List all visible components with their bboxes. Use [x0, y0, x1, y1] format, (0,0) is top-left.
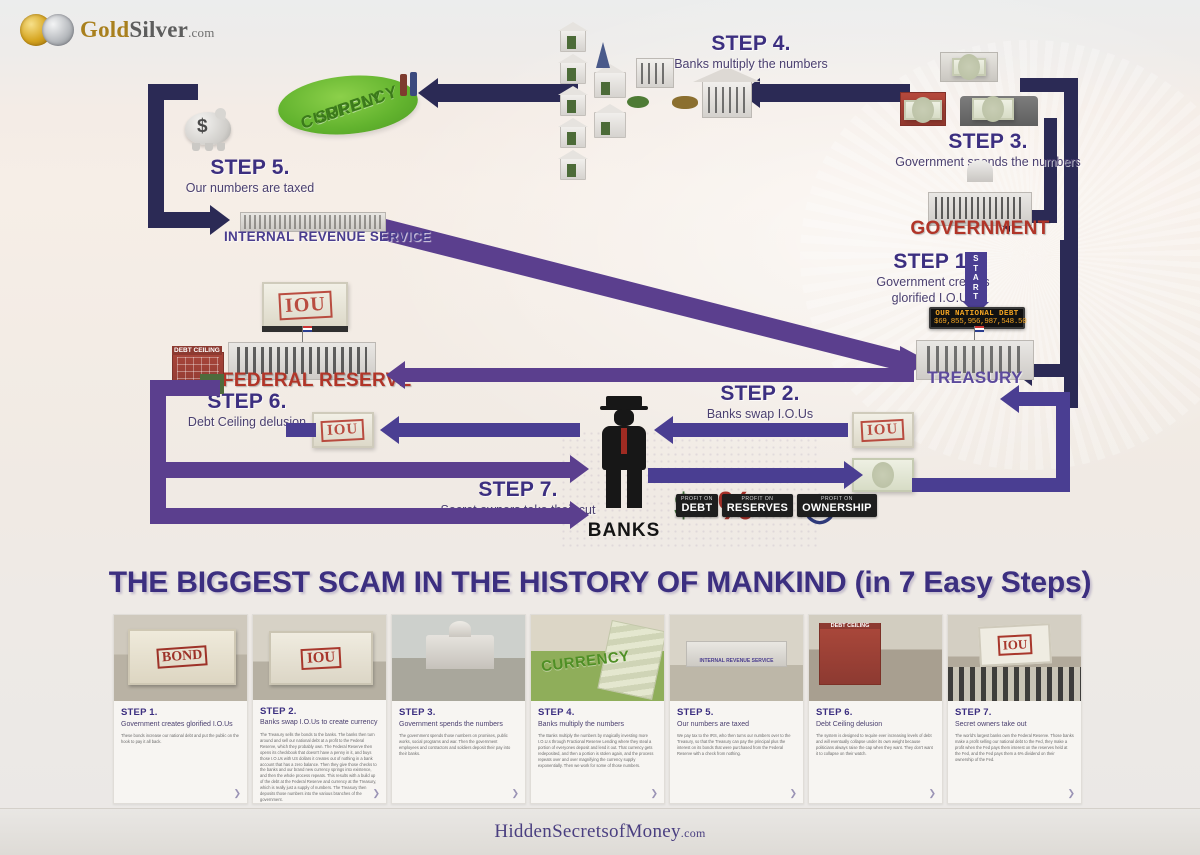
step-card-1-chevron-icon[interactable]: ❯: [233, 788, 241, 799]
profit-on-debt-badge: $ PROFIT ON DEBT: [676, 494, 718, 517]
piggy-bank-icon: [185, 112, 231, 145]
step-card-7-step: STEP 7.: [955, 707, 1074, 718]
flow-right-purple-top: [1018, 392, 1070, 406]
irs-label: INTERNAL REVENUE SERVICE: [224, 229, 404, 244]
iou-text-fed: IOU: [278, 290, 332, 320]
step-card-7-text: The world's largest banks own the Federa…: [955, 733, 1074, 763]
start-arrow-label: START: [965, 252, 987, 302]
badge-value-reserves: RESERVES: [727, 502, 788, 514]
step-card-6-step: STEP 6.: [816, 707, 935, 718]
flow-iou-to-banks-arrowhead: [654, 416, 673, 444]
step-card-1-thumbnail: BOND: [114, 615, 247, 701]
iou-text-banks: IOU: [321, 418, 365, 441]
flow-step7-lower-bar: [150, 508, 570, 524]
bus-icon: [672, 96, 698, 109]
step-card-4-title: Banks multiply the numbers: [538, 721, 657, 730]
house-icon-7: [594, 112, 626, 138]
footer-text-secrets: Secrets: [552, 821, 609, 842]
iou-note-fed[interactable]: IOU: [262, 282, 348, 328]
debt-ceiling-sign: DEBT CEILING: [172, 346, 222, 355]
flow-treasury-to-fed-arrowhead: [386, 361, 405, 389]
flow-banks-to-dollars-arrowhead: [844, 461, 863, 489]
step-card-2-step: STEP 2.: [260, 706, 379, 717]
logo-wordmark: GoldSilver.com: [80, 17, 215, 43]
step-card-4-text: The Banks multiply the numbers by magica…: [538, 733, 657, 769]
step-card-3-title: Government spends the numbers: [399, 721, 518, 730]
step-card-3-chevron-icon[interactable]: ❯: [511, 788, 519, 799]
step-card-1[interactable]: BOND STEP 1. Government creates glorifie…: [113, 614, 248, 804]
flow-banks-to-iou-arrowhead: [380, 416, 399, 444]
step-card-4[interactable]: CURRENCY STEP 4. Banks multiply the numb…: [530, 614, 665, 804]
flow-right-purple-arrowhead: [1000, 385, 1019, 413]
step-card-2-title: Banks swap I.O.Us to create currency: [260, 719, 379, 728]
step-card-6-title: Debt Ceiling delusion: [816, 721, 935, 730]
step-5-label: STEP 5. Our numbers are taxed: [150, 156, 350, 196]
badge-value-debt: DEBT: [681, 502, 713, 514]
crowd-of-bankers-icon: [948, 667, 1081, 701]
dollar-bill-icon-right: [972, 98, 1014, 120]
step-card-1-title: Government creates glorified I.O.Us: [121, 721, 240, 730]
flow-iou-fed-stub: [286, 423, 316, 437]
national-debt-title: OUR NATIONAL DEBT: [934, 310, 1020, 318]
iou-note-treasury[interactable]: IOU: [852, 412, 914, 448]
step-card-3[interactable]: STEP 3. Government spends the numbers Th…: [391, 614, 526, 804]
step-card-5[interactable]: INTERNAL REVENUE SERVICE STEP 5. Our num…: [669, 614, 804, 804]
flow-right-purple-bottom: [912, 478, 1070, 492]
flow-right-purple-vertical: [1056, 392, 1070, 492]
flow-right-outer-top: [1020, 78, 1078, 92]
currency-supply-blob: CURRENCY SUPPLY: [276, 70, 421, 140]
step-card-6[interactable]: DEBT CEILING STEP 6. Debt Ceiling delusi…: [808, 614, 943, 804]
step-card-7-chevron-icon[interactable]: ❯: [1067, 788, 1075, 799]
step-card-5-text: We pay tax to the IRS, who then turns ou…: [677, 733, 796, 757]
badge-value-ownership: OWNERSHIP: [802, 502, 872, 514]
flow-step4-outbound-arrowhead: [418, 78, 438, 108]
house-icon-3: [560, 94, 586, 116]
house-icon-4: [560, 126, 586, 148]
step-card-4-step: STEP 4.: [538, 707, 657, 718]
figure-worker-2: [410, 72, 417, 96]
flow-left-vertical-purple: [150, 380, 166, 524]
capitol-thumb-icon: [426, 635, 494, 669]
step-card-5-title: Our numbers are taxed: [677, 721, 796, 730]
flow-step4-outbound-bar: [438, 84, 578, 102]
currency-supply-label: CURRENCY SUPPLY: [277, 74, 416, 118]
footer-text-of: of: [609, 821, 625, 842]
goldsilver-logo[interactable]: GoldSilver.com: [20, 14, 215, 46]
step-card-7-title: Secret owners take out: [955, 721, 1074, 730]
step-card-6-thumbnail: DEBT CEILING: [809, 615, 942, 701]
flow-step7-lower-arrowhead: [570, 501, 589, 529]
federal-reserve-label: FEDERAL RESERVE: [222, 370, 384, 392]
iou-note-thumb-icon: IOU: [269, 631, 373, 685]
sailboat-icon: [596, 42, 610, 68]
dollar-bill-icon-left: [904, 100, 942, 120]
house-icon-6: [594, 72, 626, 98]
footer-text-hidden: Hidden: [494, 821, 552, 842]
profit-on-reserves-badge: % PROFIT ON RESERVES: [722, 494, 793, 517]
step-card-1-text: These bonds increase our national debt a…: [121, 733, 240, 745]
step-card-5-step: STEP 5.: [677, 707, 796, 718]
logo-gold-text: Gold: [80, 17, 129, 42]
step-card-7[interactable]: IOU STEP 7. Secret owners take out The w…: [947, 614, 1082, 804]
flow-treasury-to-fed-bar: [404, 368, 914, 382]
step-card-7-thumbnail: IOU: [948, 615, 1081, 701]
start-arrow: START: [963, 252, 989, 315]
flow-fed-left-stub: [150, 380, 220, 396]
step-card-5-thumbnail: INTERNAL REVENUE SERVICE: [670, 615, 803, 701]
step-card-3-step: STEP 3.: [399, 707, 518, 718]
step-card-4-thumbnail: CURRENCY: [531, 615, 664, 701]
step-1-label: STEP 1. Government creates glorified I.O…: [838, 250, 1028, 305]
step-card-4-chevron-icon[interactable]: ❯: [650, 788, 658, 799]
step-card-3-thumbnail: [392, 615, 525, 701]
treasury-label: TREASURY: [900, 368, 1050, 388]
figure-worker-1: [400, 74, 407, 96]
house-icon-5: [560, 158, 586, 180]
step-card-6-text: The system is designed to require ever i…: [816, 733, 935, 757]
footer-wordmark[interactable]: HiddenSecretsofMoney.com: [494, 821, 705, 843]
flow-step7-upper-bar: [150, 462, 570, 478]
flow-banks-to-iou-bar: [398, 423, 580, 437]
tree-icon-1: [627, 96, 649, 108]
flow-banks-to-dollars-bar: [648, 468, 844, 483]
banker-figure-icon: [592, 396, 656, 508]
flow-left-loop-vertical: [148, 84, 164, 224]
step-card-3-text: The government spends those numbers on p…: [399, 733, 518, 757]
step-card-2[interactable]: IOU STEP 2. Banks swap I.O.Us to create …: [252, 614, 387, 804]
step-card-2-thumbnail: IOU: [253, 615, 386, 700]
profit-on-ownership-badge: ◎ PROFIT ON OWNERSHIP: [797, 494, 877, 517]
profit-badges-group: $ PROFIT ON DEBT % PROFIT ON RESERVES ◎ …: [676, 494, 877, 517]
footer-text-com: .com: [681, 826, 706, 840]
irs-thumb-icon: INTERNAL REVENUE SERVICE: [686, 641, 787, 667]
step-card-2-chevron-icon[interactable]: ❯: [372, 788, 380, 799]
flow-left-loop-bottom: [148, 212, 210, 228]
step-card-6-chevron-icon[interactable]: ❯: [928, 788, 936, 799]
flow-gov-treasury-vertical: [1060, 240, 1073, 370]
bank-building-icon-large: [702, 80, 752, 118]
silver-coin-icon: [42, 14, 74, 46]
dollar-bill-icon-top: [952, 58, 986, 76]
page-title: THE BIGGEST SCAM IN THE HISTORY OF MANKI…: [0, 566, 1200, 600]
logo-silver-text: Silver: [129, 17, 188, 42]
step-4-label: STEP 4. Banks multiply the numbers: [636, 32, 866, 72]
step-card-5-chevron-icon[interactable]: ❯: [789, 788, 797, 799]
footer-bar: HiddenSecretsofMoney.com: [0, 808, 1200, 855]
house-icon-1: [560, 30, 586, 52]
flow-iou-to-banks-bar: [672, 423, 848, 437]
flow-step7-upper-arrowhead: [570, 455, 589, 483]
step-card-1-step: STEP 1.: [121, 707, 240, 718]
government-label: GOVERNMENT: [900, 218, 1060, 240]
bond-certificate-icon: BOND: [128, 629, 236, 685]
flow-step4-inbound-bar: [760, 84, 910, 102]
national-debt-amount: $69,855,956,987,548.50: [934, 318, 1020, 326]
flow-left-loop-top: [148, 84, 198, 100]
footer-text-money: Money: [625, 821, 680, 842]
infographic-page: GoldSilver.com CURRENCY SUPPLY: [0, 0, 1200, 855]
debt-ceiling-thumb-icon: DEBT CEILING: [819, 623, 881, 685]
iou-note-banks[interactable]: IOU: [312, 412, 374, 448]
step-cards-row: BOND STEP 1. Government creates glorifie…: [113, 614, 1088, 804]
house-icon-2: [560, 62, 586, 84]
iou-paper-thumb-icon: IOU: [978, 623, 1052, 667]
iou-text-treasury: IOU: [861, 418, 905, 441]
step-card-2-text: The Treasury sells the bonds to the bank…: [260, 732, 379, 803]
logo-com-text: .com: [188, 25, 214, 40]
